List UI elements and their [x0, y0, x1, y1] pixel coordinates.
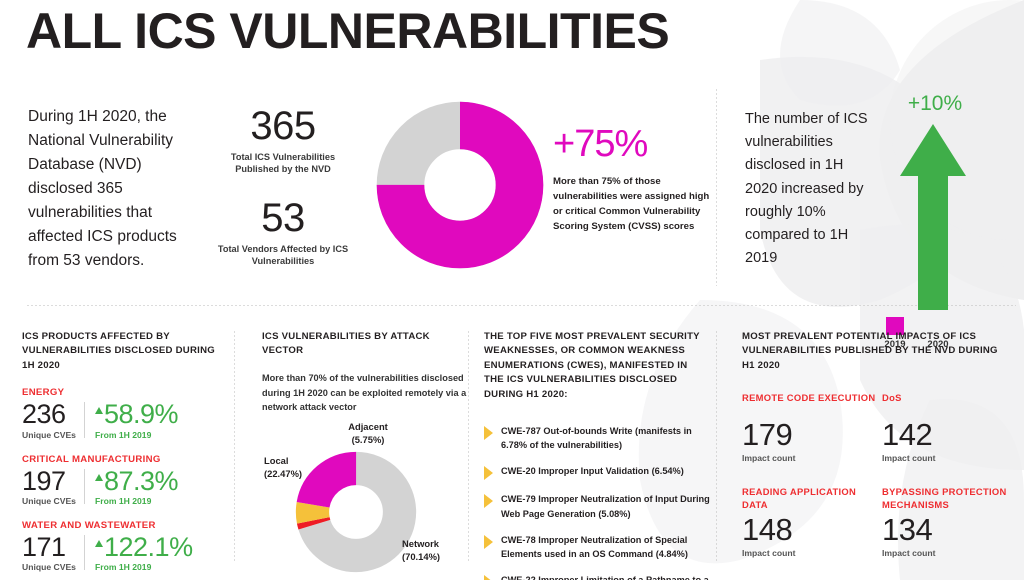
impacts-heading: MOST PREVALENT POTENTIAL IMPACTS OF ICS … — [742, 330, 1012, 373]
list-item: CWE-787 Out-of-bounds Write (manifests i… — [484, 424, 710, 453]
list-item: CWE-20 Improper Input Validation (6.54%) — [484, 464, 710, 480]
cwe-text: CWE-78 Improper Neutralization of Specia… — [501, 533, 710, 562]
page-header: ALL ICS VULNERABILITIES — [26, 6, 669, 56]
chevron-right-icon — [484, 494, 493, 508]
list-item: CWE-79 Improper Neutralization of Input … — [484, 492, 710, 521]
sector-count: 197 — [22, 467, 84, 495]
growth-paragraph: The number of ICS vulnerabilities disclo… — [745, 108, 870, 270]
up-triangle-icon — [95, 407, 103, 414]
chevron-right-icon — [484, 575, 493, 580]
sector-row: ENERGY 236 Unique CVEs 58.9% From 1H 201… — [22, 387, 228, 439]
sector-change: 122.1% — [104, 533, 193, 561]
impacts-grid: REMOTE CODE EXECUTION 179 Impact count D… — [742, 391, 1012, 557]
cwe-list: CWE-787 Out-of-bounds Write (manifests i… — [484, 424, 710, 580]
sector-name: ENERGY — [22, 387, 228, 398]
sector-change: 58.9% — [104, 400, 178, 428]
intro-paragraph: During 1H 2020, the National Vulnerabili… — [28, 105, 208, 273]
impact-name: BYPASSING PROTECTION MECHANISMS — [882, 485, 1022, 512]
impact-count: 142 — [882, 419, 1022, 452]
impact-count-label: Impact count — [882, 548, 1022, 558]
sector-row: WATER AND WASTEWATER 171 Unique CVEs 122… — [22, 520, 228, 572]
key-stats: 365 Total ICS Vulnerabilities Published … — [208, 106, 358, 268]
stat-value: 365 — [208, 106, 358, 146]
sector-change-label: From 1H 2019 — [95, 562, 193, 572]
av-label-local: Local (22.47%) — [264, 454, 302, 480]
impact-count: 134 — [882, 514, 1022, 547]
growth-percent: +10% — [880, 92, 990, 116]
stat-caption: Total ICS Vulnerabilities Published by t… — [208, 151, 358, 176]
sector-count-label: Unique CVEs — [22, 562, 84, 572]
impact-name: READING APPLICATION DATA — [742, 485, 882, 512]
sector-change: 87.3% — [104, 467, 178, 495]
up-triangle-icon — [95, 540, 103, 547]
impact-cell: BYPASSING PROTECTION MECHANISMS 134 Impa… — [882, 485, 1022, 558]
cvss-callout: +75% More than 75% of those vulnerabilit… — [553, 125, 713, 234]
av-label-network: Network (70.14%) — [402, 537, 440, 563]
growth-chart: +10% 2019 2020 — [880, 92, 990, 267]
sector-change-label: From 1H 2019 — [95, 496, 178, 506]
impact-count: 179 — [742, 419, 882, 452]
divider-bottom-3 — [716, 330, 717, 562]
sector-count-label: Unique CVEs — [22, 496, 84, 506]
attack-vector-description: More than 70% of the vulnerabilities dis… — [262, 371, 474, 415]
attack-vector-heading: ICS VULNERABILITIES BY ATTACK VECTOR — [262, 330, 474, 359]
cwe-heading: THE TOP FIVE MOST PREVALENT SECURITY WEA… — [484, 330, 710, 402]
sector-divider — [84, 402, 85, 437]
impact-cell: READING APPLICATION DATA 148 Impact coun… — [742, 485, 882, 558]
sector-name: CRITICAL MANUFACTURING — [22, 454, 228, 465]
impact-count-label: Impact count — [882, 453, 1022, 463]
impact-count: 148 — [742, 514, 882, 547]
chevron-right-icon — [484, 466, 493, 480]
impact-count-label: Impact count — [742, 548, 882, 558]
cvss-donut-chart — [375, 100, 545, 270]
list-item: CWE-78 Improper Neutralization of Specia… — [484, 533, 710, 562]
cvss-percent: +75% — [553, 125, 713, 163]
cwe-text: CWE-20 Improper Input Validation (6.54%) — [501, 464, 684, 478]
av-label-adjacent: Adjacent (5.75%) — [328, 420, 408, 446]
up-triangle-icon — [95, 474, 103, 481]
list-item: CWE-22 Improper Limitation of a Pathname… — [484, 573, 710, 580]
attack-vector-panel: ICS VULNERABILITIES BY ATTACK VECTOR Mor… — [262, 330, 474, 415]
up-arrow-icon — [896, 120, 970, 310]
divider-top-right — [716, 88, 717, 286]
sector-name: WATER AND WASTEWATER — [22, 520, 228, 531]
impact-cell: REMOTE CODE EXECUTION 179 Impact count — [742, 391, 882, 463]
cwe-panel: THE TOP FIVE MOST PREVALENT SECURITY WEA… — [484, 330, 710, 580]
sector-divider — [84, 535, 85, 570]
sectors-panel: ICS PRODUCTS AFFECTED BY VULNERABILITIES… — [22, 330, 228, 572]
section-divider-horizontal — [26, 305, 1016, 306]
divider-bottom-1 — [234, 330, 235, 562]
page-title: ALL ICS VULNERABILITIES — [26, 6, 669, 56]
chevron-right-icon — [484, 426, 493, 440]
stat-value: 53 — [208, 198, 358, 238]
impact-count-label: Impact count — [742, 453, 882, 463]
impacts-panel: MOST PREVALENT POTENTIAL IMPACTS OF ICS … — [742, 330, 1012, 558]
sector-change-label: From 1H 2019 — [95, 430, 178, 440]
impact-cell: DoS 142 Impact count — [882, 391, 1022, 463]
sectors-heading: ICS PRODUCTS AFFECTED BY VULNERABILITIES… — [22, 330, 228, 373]
stat-total-vulnerabilities: 365 Total ICS Vulnerabilities Published … — [208, 106, 358, 176]
cvss-description: More than 75% of those vulnerabilities w… — [553, 175, 713, 234]
impact-name: REMOTE CODE EXECUTION — [742, 391, 882, 417]
sector-count: 171 — [22, 533, 84, 561]
stat-total-vendors: 53 Total Vendors Affected by ICS Vulnera… — [208, 198, 358, 268]
infographic-page: ALL ICS VULNERABILITIES During 1H 2020, … — [0, 0, 1024, 580]
cwe-text: CWE-22 Improper Limitation of a Pathname… — [501, 573, 710, 580]
sector-count: 236 — [22, 400, 84, 428]
chevron-right-icon — [484, 535, 493, 549]
cwe-text: CWE-79 Improper Neutralization of Input … — [501, 492, 710, 521]
sector-count-label: Unique CVEs — [22, 430, 84, 440]
sector-row: CRITICAL MANUFACTURING 197 Unique CVEs 8… — [22, 454, 228, 506]
sector-divider — [84, 469, 85, 504]
attack-vector-donut-chart — [292, 448, 420, 576]
cwe-text: CWE-787 Out-of-bounds Write (manifests i… — [501, 424, 710, 453]
stat-caption: Total Vendors Affected by ICS Vulnerabil… — [208, 243, 358, 268]
impact-name: DoS — [882, 391, 1022, 417]
